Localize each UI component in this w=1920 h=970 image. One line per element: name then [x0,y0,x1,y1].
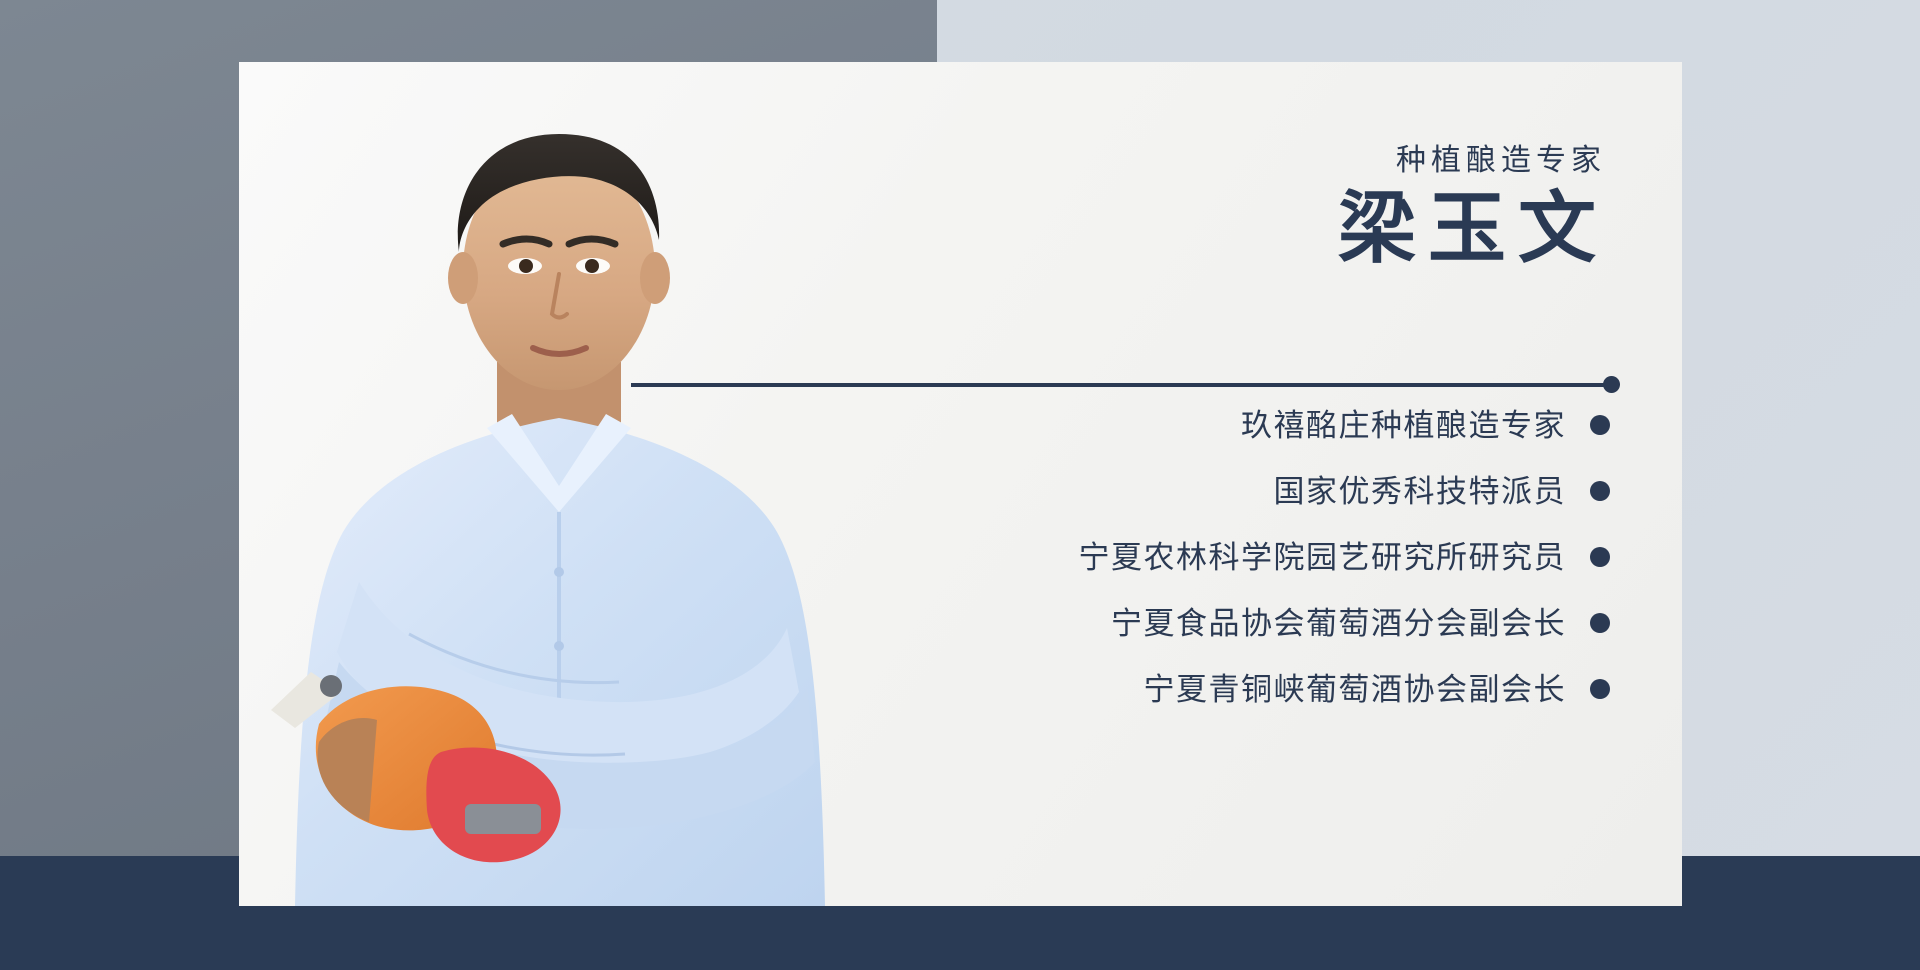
list-item: 宁夏食品协会葡萄酒分会副会长 [710,596,1610,650]
credential-label: 宁夏青铜峡葡萄酒协会副会长 [1144,674,1567,705]
role-title: 种植酿造专家 [1338,146,1610,176]
bullet-dot-icon [1590,679,1610,699]
person-name: 梁玉文 [1338,188,1610,270]
divider-rule [631,383,1611,387]
profile-heading-block: 种植酿造专家 梁玉文 [1338,146,1610,270]
divider-end-dot-icon [1603,376,1620,393]
bullet-dot-icon [1590,547,1610,567]
bullet-dot-icon [1590,613,1610,633]
credential-label: 宁夏食品协会葡萄酒分会副会长 [1111,608,1566,639]
bullet-dot-icon [1590,481,1610,501]
list-item: 宁夏青铜峡葡萄酒协会副会长 [710,662,1610,716]
credential-label: 国家优秀科技特派员 [1274,476,1567,507]
list-item: 宁夏农林科学院园艺研究所研究员 [710,530,1610,584]
credentials-list: 玖禧酩庄种植酿造专家 国家优秀科技特派员 宁夏农林科学院园艺研究所研究员 宁夏食… [710,398,1610,728]
list-item: 国家优秀科技特派员 [710,464,1610,518]
bullet-dot-icon [1590,415,1610,435]
credential-label: 宁夏农林科学院园艺研究所研究员 [1079,542,1567,573]
profile-banner: 种植酿造专家 梁玉文 玖禧酩庄种植酿造专家 国家优秀科技特派员 宁夏农林科学院园… [0,0,1920,970]
credential-label: 玖禧酩庄种植酿造专家 [1241,410,1566,441]
list-item: 玖禧酩庄种植酿造专家 [710,398,1610,452]
profile-card: 种植酿造专家 梁玉文 玖禧酩庄种植酿造专家 国家优秀科技特派员 宁夏农林科学院园… [239,62,1682,906]
